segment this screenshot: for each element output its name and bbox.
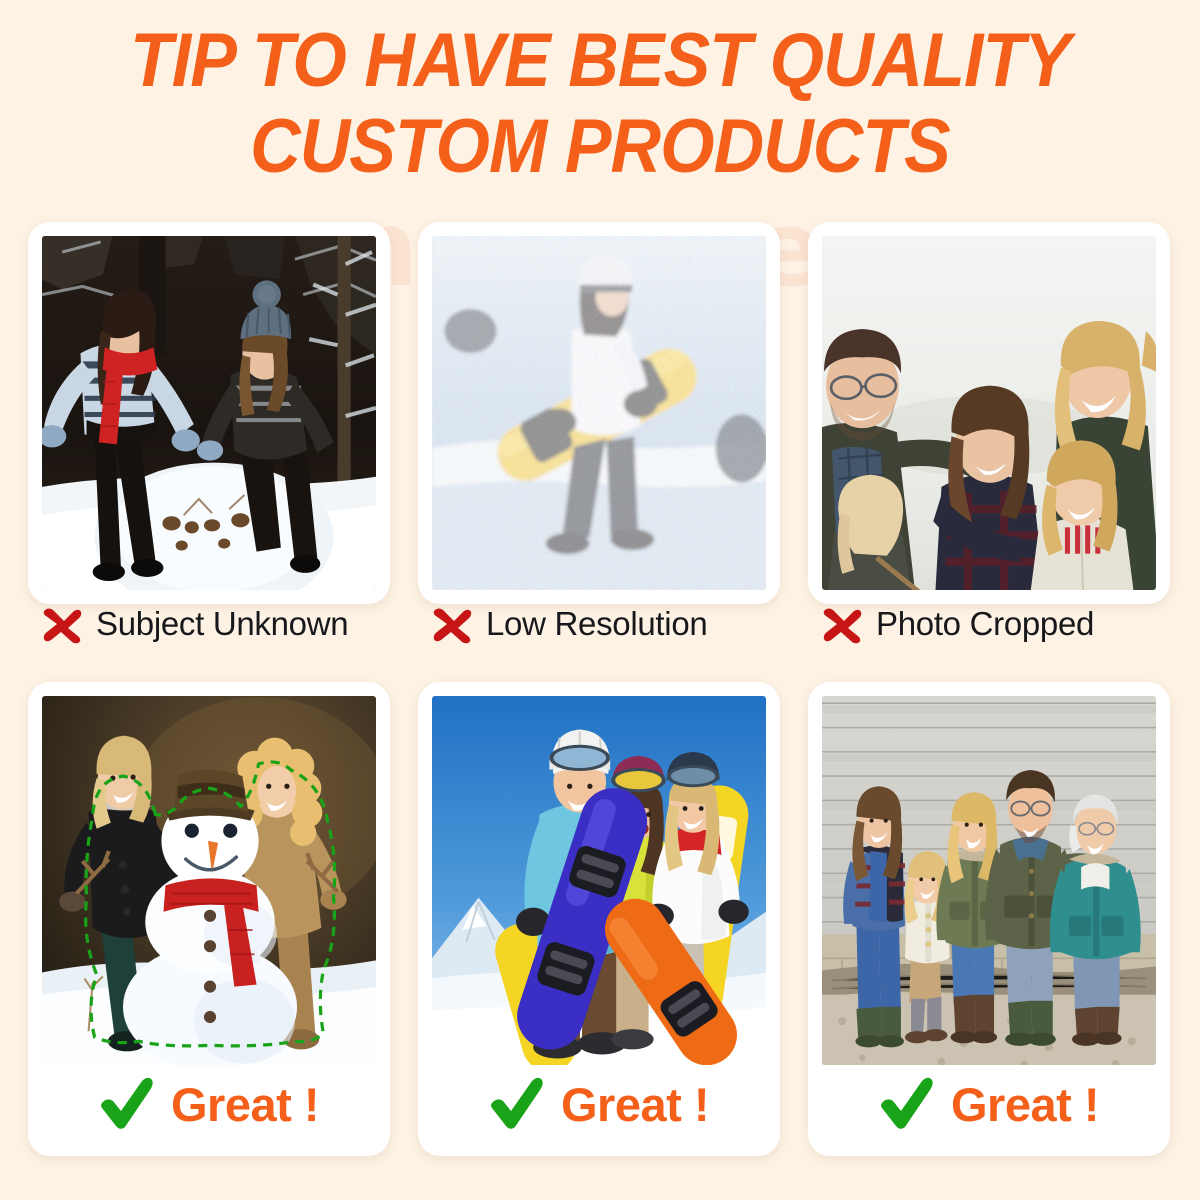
photo-family-barn [822, 696, 1156, 1065]
page-title-line-1: TIP TO HAVE BEST QUALITY [48, 18, 1152, 104]
good-label-text: Great ! [951, 1077, 1099, 1132]
bad-examples-row: Subject Unknown [28, 222, 1172, 604]
photo-card[interactable]: Great ! [418, 682, 780, 1156]
photo-card[interactable] [418, 222, 780, 604]
photo-snowman-outlined [42, 696, 376, 1065]
good-label-snowboarders: Great ! [432, 1067, 766, 1142]
page-title: TIP TO HAVE BEST QUALITY CUSTOM PRODUCTS [0, 18, 1200, 190]
bad-label-subject-unknown: Subject Unknown [28, 604, 390, 644]
good-example-snowboarders: Great ! [418, 682, 780, 1156]
good-label-snowman: Great ! [42, 1067, 376, 1142]
photo-card[interactable]: Great ! [808, 682, 1170, 1156]
bad-example-photo-cropped: Photo Cropped [808, 222, 1170, 604]
photo-low-resolution [432, 236, 766, 590]
page-title-line-2: CUSTOM PRODUCTS [48, 104, 1152, 190]
photo-card[interactable] [28, 222, 390, 604]
bad-label-text: Low Resolution [486, 605, 707, 643]
good-example-family: Great ! [808, 682, 1170, 1156]
good-label-text: Great ! [171, 1077, 319, 1132]
photo-card[interactable] [808, 222, 1170, 604]
examples-grid: Subject Unknown [28, 222, 1172, 1156]
bad-label-low-resolution: Low Resolution [418, 604, 780, 644]
red-x-icon [820, 604, 864, 644]
bad-example-subject-unknown: Subject Unknown [28, 222, 390, 604]
bad-label-text: Subject Unknown [96, 605, 348, 643]
good-examples-row: Great ! [28, 682, 1172, 1156]
good-label-family: Great ! [822, 1067, 1156, 1142]
red-x-icon [40, 604, 84, 644]
photo-card[interactable]: Great ! [28, 682, 390, 1156]
bad-label-text: Photo Cropped [876, 605, 1094, 643]
photo-cropped [822, 236, 1156, 590]
bad-example-low-resolution: Low Resolution [418, 222, 780, 604]
photo-subject-unknown [42, 236, 376, 590]
photo-snowboarders [432, 696, 766, 1065]
good-label-text: Great ! [561, 1077, 709, 1132]
red-x-icon [430, 604, 474, 644]
good-example-snowman: Great ! [28, 682, 390, 1156]
green-check-icon [879, 1077, 935, 1131]
green-check-icon [99, 1077, 155, 1131]
bad-label-photo-cropped: Photo Cropped [808, 604, 1170, 644]
green-check-icon [489, 1077, 545, 1131]
